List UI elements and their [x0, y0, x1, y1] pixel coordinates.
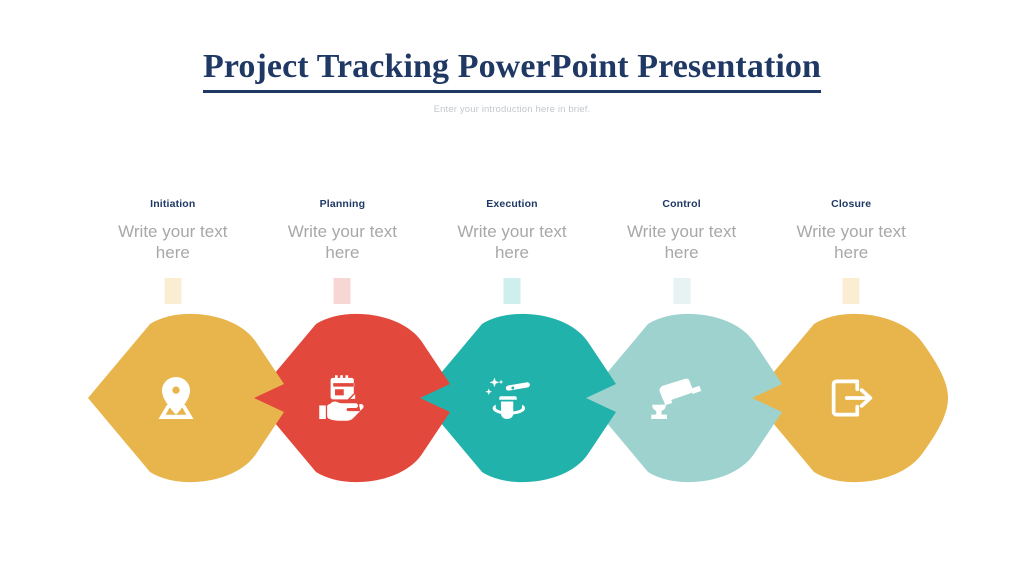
connector-bar-control [673, 278, 690, 304]
stage-shapes-row [88, 312, 948, 484]
connector-bar-execution [503, 278, 520, 304]
connector-bar-planning [334, 278, 351, 304]
connector-bar-closure [843, 278, 860, 304]
stage-header-initiation: Initiation [88, 198, 258, 210]
stage-header-planning: Planning [258, 198, 428, 210]
presentation-slide: Project Tracking PowerPoint Presentation… [0, 0, 1024, 576]
stage-column-closure[interactable]: Closure Write your text here [766, 198, 936, 308]
stage-body-execution[interactable]: Write your text here [427, 222, 597, 263]
stage-column-planning[interactable]: Planning Write your text here [258, 198, 428, 308]
page-title: Project Tracking PowerPoint Presentation [203, 48, 821, 93]
slide-subtitle: Enter your introduction here in brief. [0, 104, 1024, 115]
title-block: Project Tracking PowerPoint Presentation [0, 48, 1024, 93]
stage-shape-initiation[interactable] [88, 312, 288, 484]
stage-body-planning[interactable]: Write your text here [258, 222, 428, 263]
leaf-shape-initiation[interactable] [88, 312, 288, 484]
stage-column-execution[interactable]: Execution Write your text here [427, 198, 597, 308]
stage-header-execution: Execution [427, 198, 597, 210]
stage-header-closure: Closure [766, 198, 936, 210]
connector-bar-initiation [164, 278, 181, 304]
stage-column-control[interactable]: Control Write your text here [597, 198, 767, 308]
stage-column-initiation[interactable]: Initiation Write your text here [88, 198, 258, 308]
stage-header-control: Control [597, 198, 767, 210]
stage-body-control[interactable]: Write your text here [597, 222, 767, 263]
stage-body-initiation[interactable]: Write your text here [88, 222, 258, 263]
stage-body-closure[interactable]: Write your text here [766, 222, 936, 263]
stage-text-columns: Initiation Write your text here Planning… [88, 198, 936, 308]
